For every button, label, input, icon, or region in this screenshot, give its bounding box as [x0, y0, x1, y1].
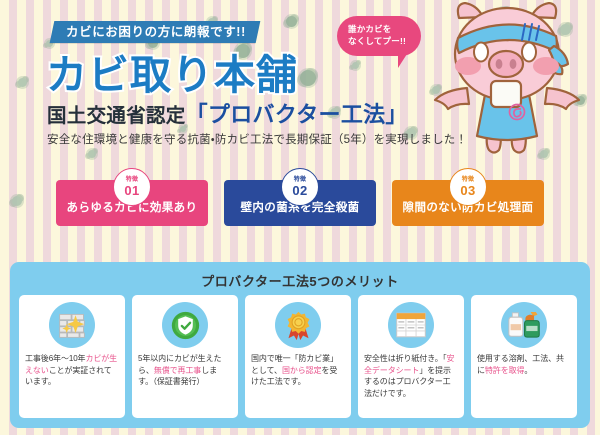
- feature-badge-02: 特徴02: [281, 168, 319, 206]
- merit-card: 安全性は折り紙付き。「安全データシート」を提示するのはプロバクター工法だけです。: [358, 295, 464, 418]
- merits-panel: プロバクター工法5つのメリット 工事後6年～10年カビが生えないことが実証されて…: [10, 262, 590, 428]
- bubble-line-2: なくしてプー!!: [348, 35, 421, 47]
- feature-box-01[interactable]: 特徴01あらゆるカビに効果あり: [56, 180, 208, 226]
- merit-card-row: 工事後6年～10年カビが生えないことが実証されています。5年以内にカビが生えたら…: [19, 295, 581, 418]
- hero-subtitle-method: 「プロバクター工法」: [186, 102, 408, 127]
- merit-card: 5年以内にカビが生えたら、無償で再工事します。（保証書発行）: [132, 295, 238, 418]
- feature-badge-03: 特徴03: [449, 168, 487, 206]
- gold-medal-ribbon-icon: [275, 302, 321, 348]
- hero-tagline: 安全な住環境と健康を守る抗菌・防カビ工法で長期保証（5年）を実現しました！: [47, 131, 467, 147]
- feature-badge-number: 03: [460, 184, 475, 197]
- brick-wall-sparkle-icon: [49, 302, 95, 348]
- merit-highlight-text: 特許を取得: [485, 366, 525, 375]
- green-shield-check-icon: [162, 302, 208, 348]
- merit-card: 使用する溶剤、工法、共に特許を取得。: [471, 295, 577, 418]
- merit-card: 国内で唯一「防カビ業」として、国から認定を受けた工法です。: [245, 295, 351, 418]
- merit-card-text: 工事後6年～10年カビが生えないことが実証されています。: [25, 353, 119, 388]
- bottle-spray-cleaner-icon: [501, 302, 547, 348]
- merit-card: 工事後6年～10年カビが生えないことが実証されています。: [19, 295, 125, 418]
- ribbon-body: カビにお困りの方に朗報です!!: [50, 21, 261, 43]
- feature-box-row: 特徴01あらゆるカビに効果あり特徴02壁内の菌糸を完全殺菌特徴03隙間のない防カ…: [0, 170, 600, 232]
- feature-badge-number: 02: [292, 184, 307, 197]
- merit-card-text: 国内で唯一「防カビ業」として、国から認定を受けた工法です。: [251, 353, 345, 388]
- ribbon-text: カビにお困りの方に朗報です!!: [66, 21, 246, 43]
- merits-title: プロバクター工法5つのメリット: [10, 262, 590, 290]
- feature-box-02[interactable]: 特徴02壁内の菌糸を完全殺菌: [224, 180, 376, 226]
- merit-card-text: 5年以内にカビが生えたら、無償で再工事します。（保証書発行）: [138, 353, 232, 388]
- feature-badge-01: 特徴01: [113, 168, 151, 206]
- page-title: カビ取り本舗: [46, 41, 298, 101]
- page-root: カビにお困りの方に朗報です!! カビ取り本舗 国土交通省認定「プロバクター工法」…: [0, 0, 600, 435]
- mascot-speech-bubble: 誰かカビを なくしてプー!!: [337, 16, 421, 56]
- hero-subtitle-govt: 国土交通省認定: [47, 105, 186, 127]
- merit-highlight-text: 国から認定: [282, 366, 322, 375]
- announcement-ribbon: カビにお困りの方に朗報です!!: [52, 21, 258, 43]
- bubble-line-1: 誰かカビを: [348, 23, 421, 35]
- data-sheet-table-icon: [388, 302, 434, 348]
- pig-mascot-icon: [425, 2, 600, 182]
- feature-badge-number: 01: [124, 184, 139, 197]
- merit-plain-text: 工事後6年～10年: [25, 354, 85, 363]
- merit-highlight-text: 無償で再工事: [154, 366, 201, 375]
- merit-plain-text: 安全性は折り紙付き。「: [364, 354, 447, 363]
- merit-card-text: 安全性は折り紙付き。「安全データシート」を提示するのはプロバクター工法だけです。: [364, 353, 458, 399]
- merit-plain-text: 。: [524, 366, 532, 375]
- merit-card-text: 使用する溶剤、工法、共に特許を取得。: [477, 353, 571, 376]
- feature-box-03[interactable]: 特徴03隙間のない防カビ処理面: [392, 180, 544, 226]
- hero-subtitle: 国土交通省認定「プロバクター工法」: [47, 97, 408, 129]
